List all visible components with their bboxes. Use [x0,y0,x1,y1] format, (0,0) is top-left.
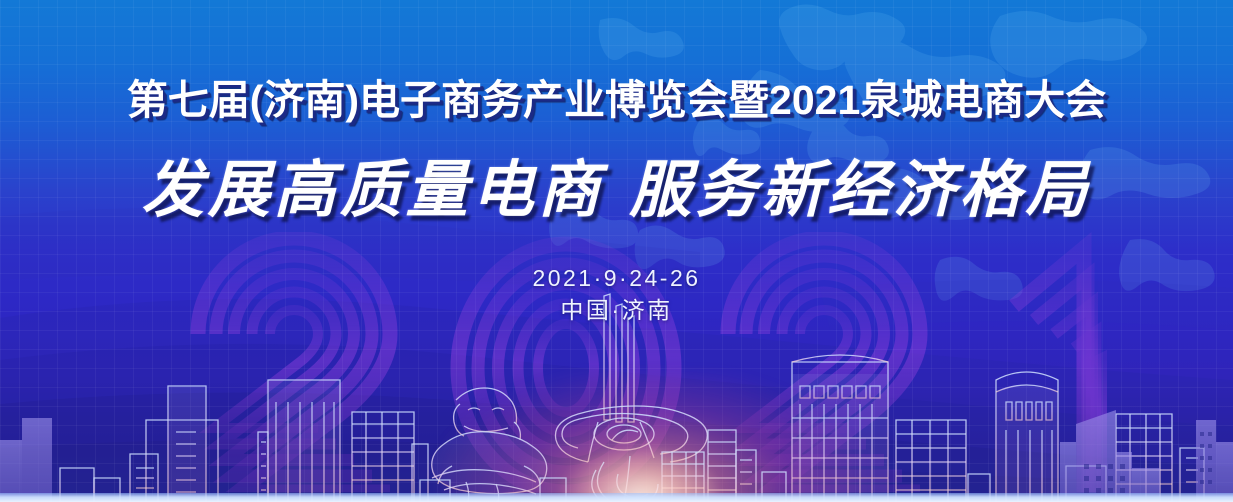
event-meta: 2021·9·24-26 中国·济南 [0,262,1233,326]
event-location: 中国·济南 [0,294,1233,326]
bottom-accent-strip [0,493,1233,502]
event-date: 2021·9·24-26 [0,262,1233,294]
page-title: 第七届(济南)电子商务产业博览会暨2021泉城电商大会 [0,74,1233,126]
event-slogan: 发展高质量电商 服务新经济格局 [0,152,1233,228]
event-banner: 第七届(济南)电子商务产业博览会暨2021泉城电商大会 发展高质量电商 服务新经… [0,0,1233,502]
